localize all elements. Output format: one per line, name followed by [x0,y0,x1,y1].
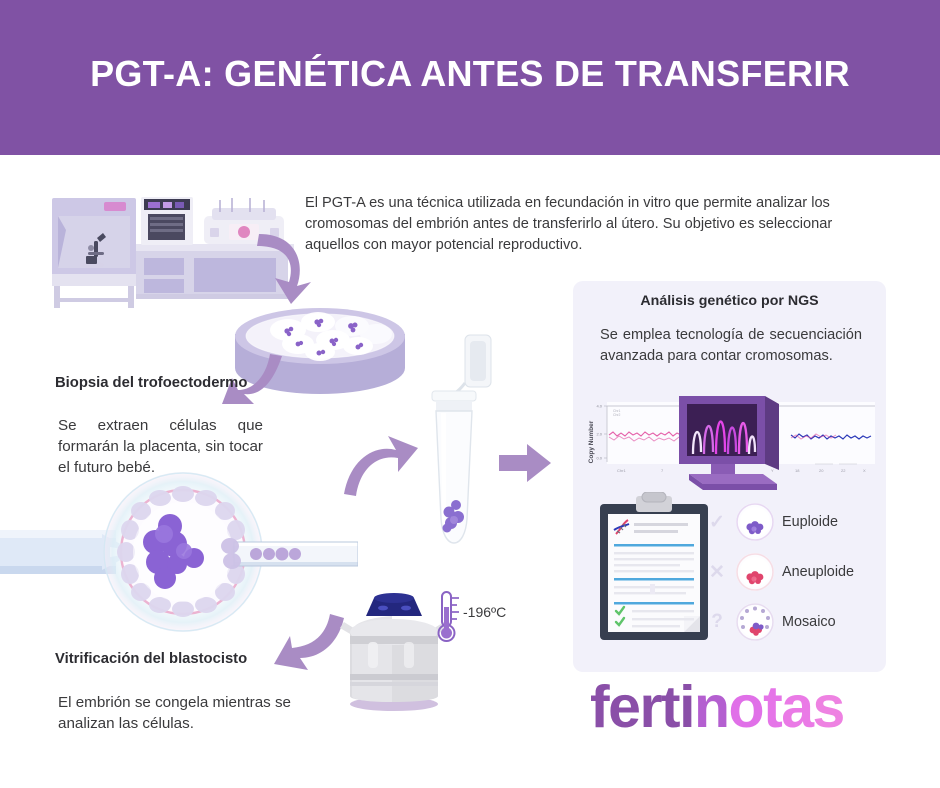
cross-icon: ✕ [706,561,728,584]
infographic-page: PGT-A: GENÉTICA ANTES DE TRANSFERIR El P… [0,0,940,788]
svg-text:Y: Y [771,468,774,473]
logo-part-ferti: ferti [590,674,694,740]
svg-text:22: 22 [841,468,846,473]
svg-text:20: 20 [819,468,824,473]
svg-text:7: 7 [661,468,664,473]
thermometer-icon [432,589,466,645]
legend-label-mosaico: Mosaico [782,614,836,630]
biopsy-step-body: Se extraen células que formarán la place… [58,415,263,478]
cryo-temperature-label: -196ºC [463,604,506,620]
check-icon: ✓ [706,511,728,534]
brand-logo: fertinotas [590,678,844,737]
report-clipboard-illustration [592,492,718,647]
biopsy-step-title: Biopsia del trofoectodermo [55,374,265,392]
ngs-panel-body: Se emplea tecnología de secuenciación av… [600,325,862,367]
eppendorf-tube-illustration [425,333,505,573]
euploid-embryo-icon [736,503,774,541]
page-title: PGT-A: GENÉTICA ANTES DE TRANSFERIR [0,53,940,95]
svg-text:0.0: 0.0 [596,456,602,461]
aneuploid-embryo-icon [736,553,774,591]
svg-text:Chr1: Chr1 [617,468,626,473]
intro-paragraph: El PGT-A es una técnica utilizada en fec… [305,193,873,256]
vitrification-step-body: El embrión se congela mientras se analiz… [58,692,298,734]
svg-text:4.0: 4.0 [596,404,602,409]
svg-text:Chr2: Chr2 [613,413,620,417]
svg-text:2.0: 2.0 [596,432,602,437]
logo-part-notas: notas [694,674,844,740]
svg-text:X: X [863,468,866,473]
legend-label-aneuploide: Aneuploide [782,564,854,580]
ngs-panel-title: Análisis genético por NGS [573,293,886,309]
mosaic-embryo-icon [736,603,774,641]
question-mark-icon: ? [706,611,728,633]
legend-item-euploide: ✓ Euploide [706,497,886,547]
vitrification-step-title: Vitrificación del blastocisto [55,650,270,668]
svg-text:18: 18 [795,468,800,473]
arrow-blastocyst-to-tube [340,432,420,502]
ngs-chart-illustration: Copy Number 4.0 2.0 0.0 C [583,392,878,490]
arrow-tube-to-analysis [497,440,553,486]
chart-y-axis-label: Copy Number [588,420,595,463]
legend-item-aneuploide: ✕ Aneuploide [706,547,886,597]
result-legend: ✓ Euploide [706,497,886,647]
legend-item-mosaico: ? [706,597,886,647]
legend-label-euploide: Euploide [782,514,838,530]
